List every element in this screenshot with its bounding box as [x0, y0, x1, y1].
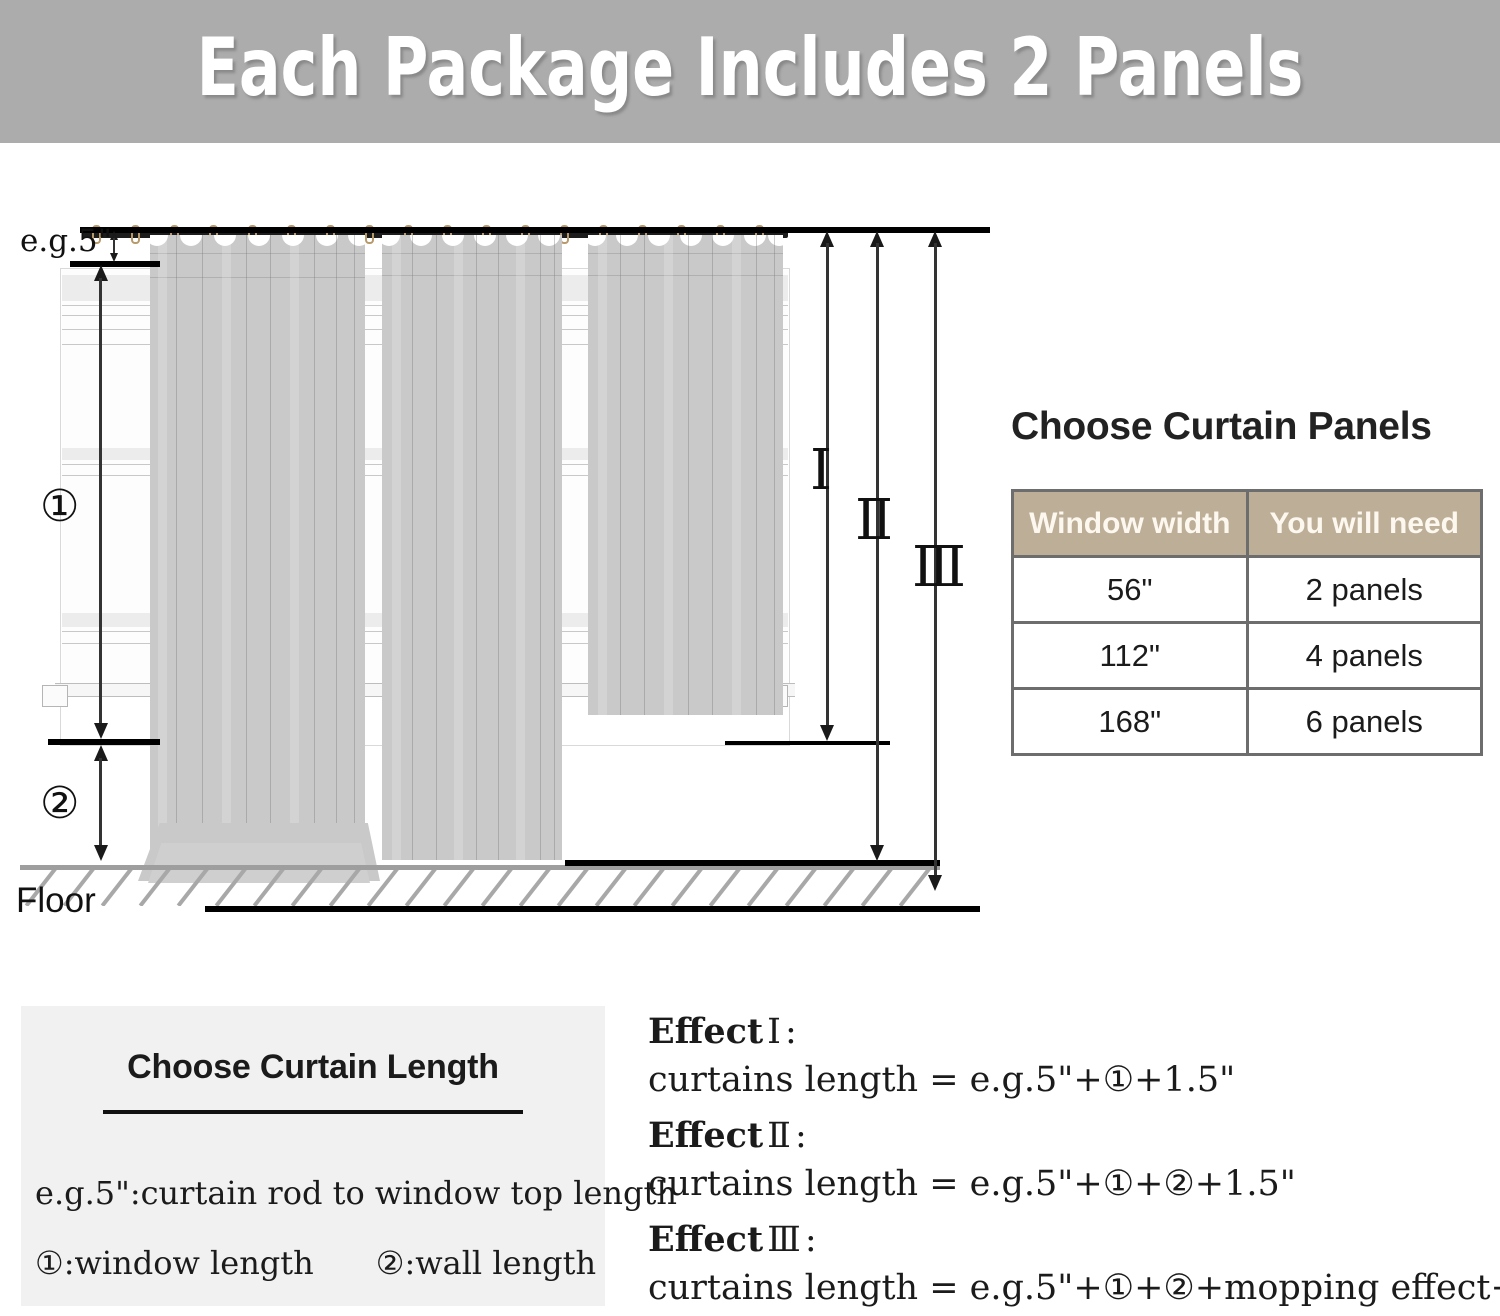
cell-panels-needed: 2 panels	[1247, 557, 1482, 623]
label-window-length: ①	[40, 481, 79, 532]
floor-line-bottom	[205, 906, 980, 912]
effect-3-formula: curtains length = e.g.5"+①+②+mopping eff…	[648, 1264, 1498, 1312]
dim-line-wall	[99, 758, 102, 853]
table-row: 112" 4 panels	[1013, 623, 1482, 689]
panels-table: Window width You will need 56" 2 panels …	[1011, 489, 1483, 756]
table-header-row: Window width You will need	[1013, 491, 1482, 557]
curtain-panel-short	[588, 235, 783, 715]
effect-2-numeral: Ⅱ	[763, 1116, 795, 1156]
choose-curtain-length-card: Choose Curtain Length e.g.5":curtain rod…	[21, 1006, 605, 1306]
legend-window-length: ①:window length	[35, 1244, 314, 1282]
cell-window-width: 168"	[1013, 689, 1248, 755]
arrow-wall-down	[94, 845, 108, 861]
effect-1-colon: :	[785, 1012, 797, 1052]
legend-row-2: ①:window length②:wall length	[35, 1244, 596, 1282]
label-effect-2: Ⅱ	[855, 488, 893, 553]
label-effect-3: Ⅲ	[912, 535, 966, 600]
effect-1-numeral: Ⅰ	[763, 1012, 785, 1052]
effect-1-heading: EffectⅠ:	[648, 1008, 1498, 1056]
table-row: 168" 6 panels	[1013, 689, 1482, 755]
curtain-panel-mid	[382, 235, 562, 860]
effect-2-colon: :	[795, 1116, 807, 1156]
header-banner: Each Package Includes 2 Panels	[0, 0, 1500, 143]
panels-table-heading: Choose Curtain Panels	[1011, 405, 1485, 449]
legend-rod-to-window: e.g.5":curtain rod to window top length	[35, 1174, 677, 1212]
arrow-effect3-down	[928, 875, 942, 891]
cell-window-width: 56"	[1013, 557, 1248, 623]
cell-panels-needed: 6 panels	[1247, 689, 1482, 755]
label-effect-1: Ⅰ	[810, 438, 832, 503]
infographic-page: Each Package Includes 2 Panels	[0, 0, 1500, 1316]
label-rod-to-window: e.g.5"	[20, 223, 112, 259]
blind-bracket	[42, 685, 68, 707]
page-title: Each Package Includes 2 Panels	[105, 16, 1395, 120]
length-card-divider	[103, 1110, 523, 1114]
label-wall-length: ②	[40, 778, 79, 829]
effect-1-label: Effect	[648, 1011, 763, 1052]
arrow-window-down	[94, 723, 108, 739]
arrow-effect1-down	[820, 725, 834, 741]
arrow-eg-down	[110, 253, 118, 262]
effect-3-colon: :	[805, 1220, 817, 1260]
effect-3-heading: EffectⅢ:	[648, 1216, 1498, 1264]
cell-window-width: 112"	[1013, 623, 1248, 689]
table-row: 56" 2 panels	[1013, 557, 1482, 623]
column-header-you-will-need: You will need	[1247, 491, 1482, 557]
effect-formulas-block: EffectⅠ: curtains length = e.g.5"+①+1.5"…	[648, 1008, 1498, 1316]
choose-curtain-panels-block: Choose Curtain Panels Window width You w…	[1011, 405, 1485, 756]
length-card-heading: Choose Curtain Length	[21, 1048, 605, 1087]
curtain-panel-long	[150, 235, 365, 880]
arrow-effect2-down	[870, 845, 884, 861]
floor-hatch	[20, 870, 980, 906]
effect-2-heading: EffectⅡ:	[648, 1112, 1498, 1160]
curtain-measurement-diagram: e.g.5" ① ② Floor Ⅰ Ⅱ Ⅲ	[0, 143, 1000, 973]
effect-3-label: Effect	[648, 1219, 763, 1260]
dim-line-window	[99, 278, 102, 733]
legend-wall-length: ②:wall length	[376, 1244, 596, 1282]
tick-sill-right	[725, 741, 890, 745]
effect-2-formula: curtains length = e.g.5"+①+②+1.5"	[648, 1160, 1498, 1208]
column-header-window-width: Window width	[1013, 491, 1248, 557]
effect-3-numeral: Ⅲ	[763, 1220, 805, 1260]
label-floor: Floor	[16, 881, 96, 921]
cell-panels-needed: 4 panels	[1247, 623, 1482, 689]
effect-2-label: Effect	[648, 1115, 763, 1156]
effect-1-formula: curtains length = e.g.5"+①+1.5"	[648, 1056, 1498, 1104]
